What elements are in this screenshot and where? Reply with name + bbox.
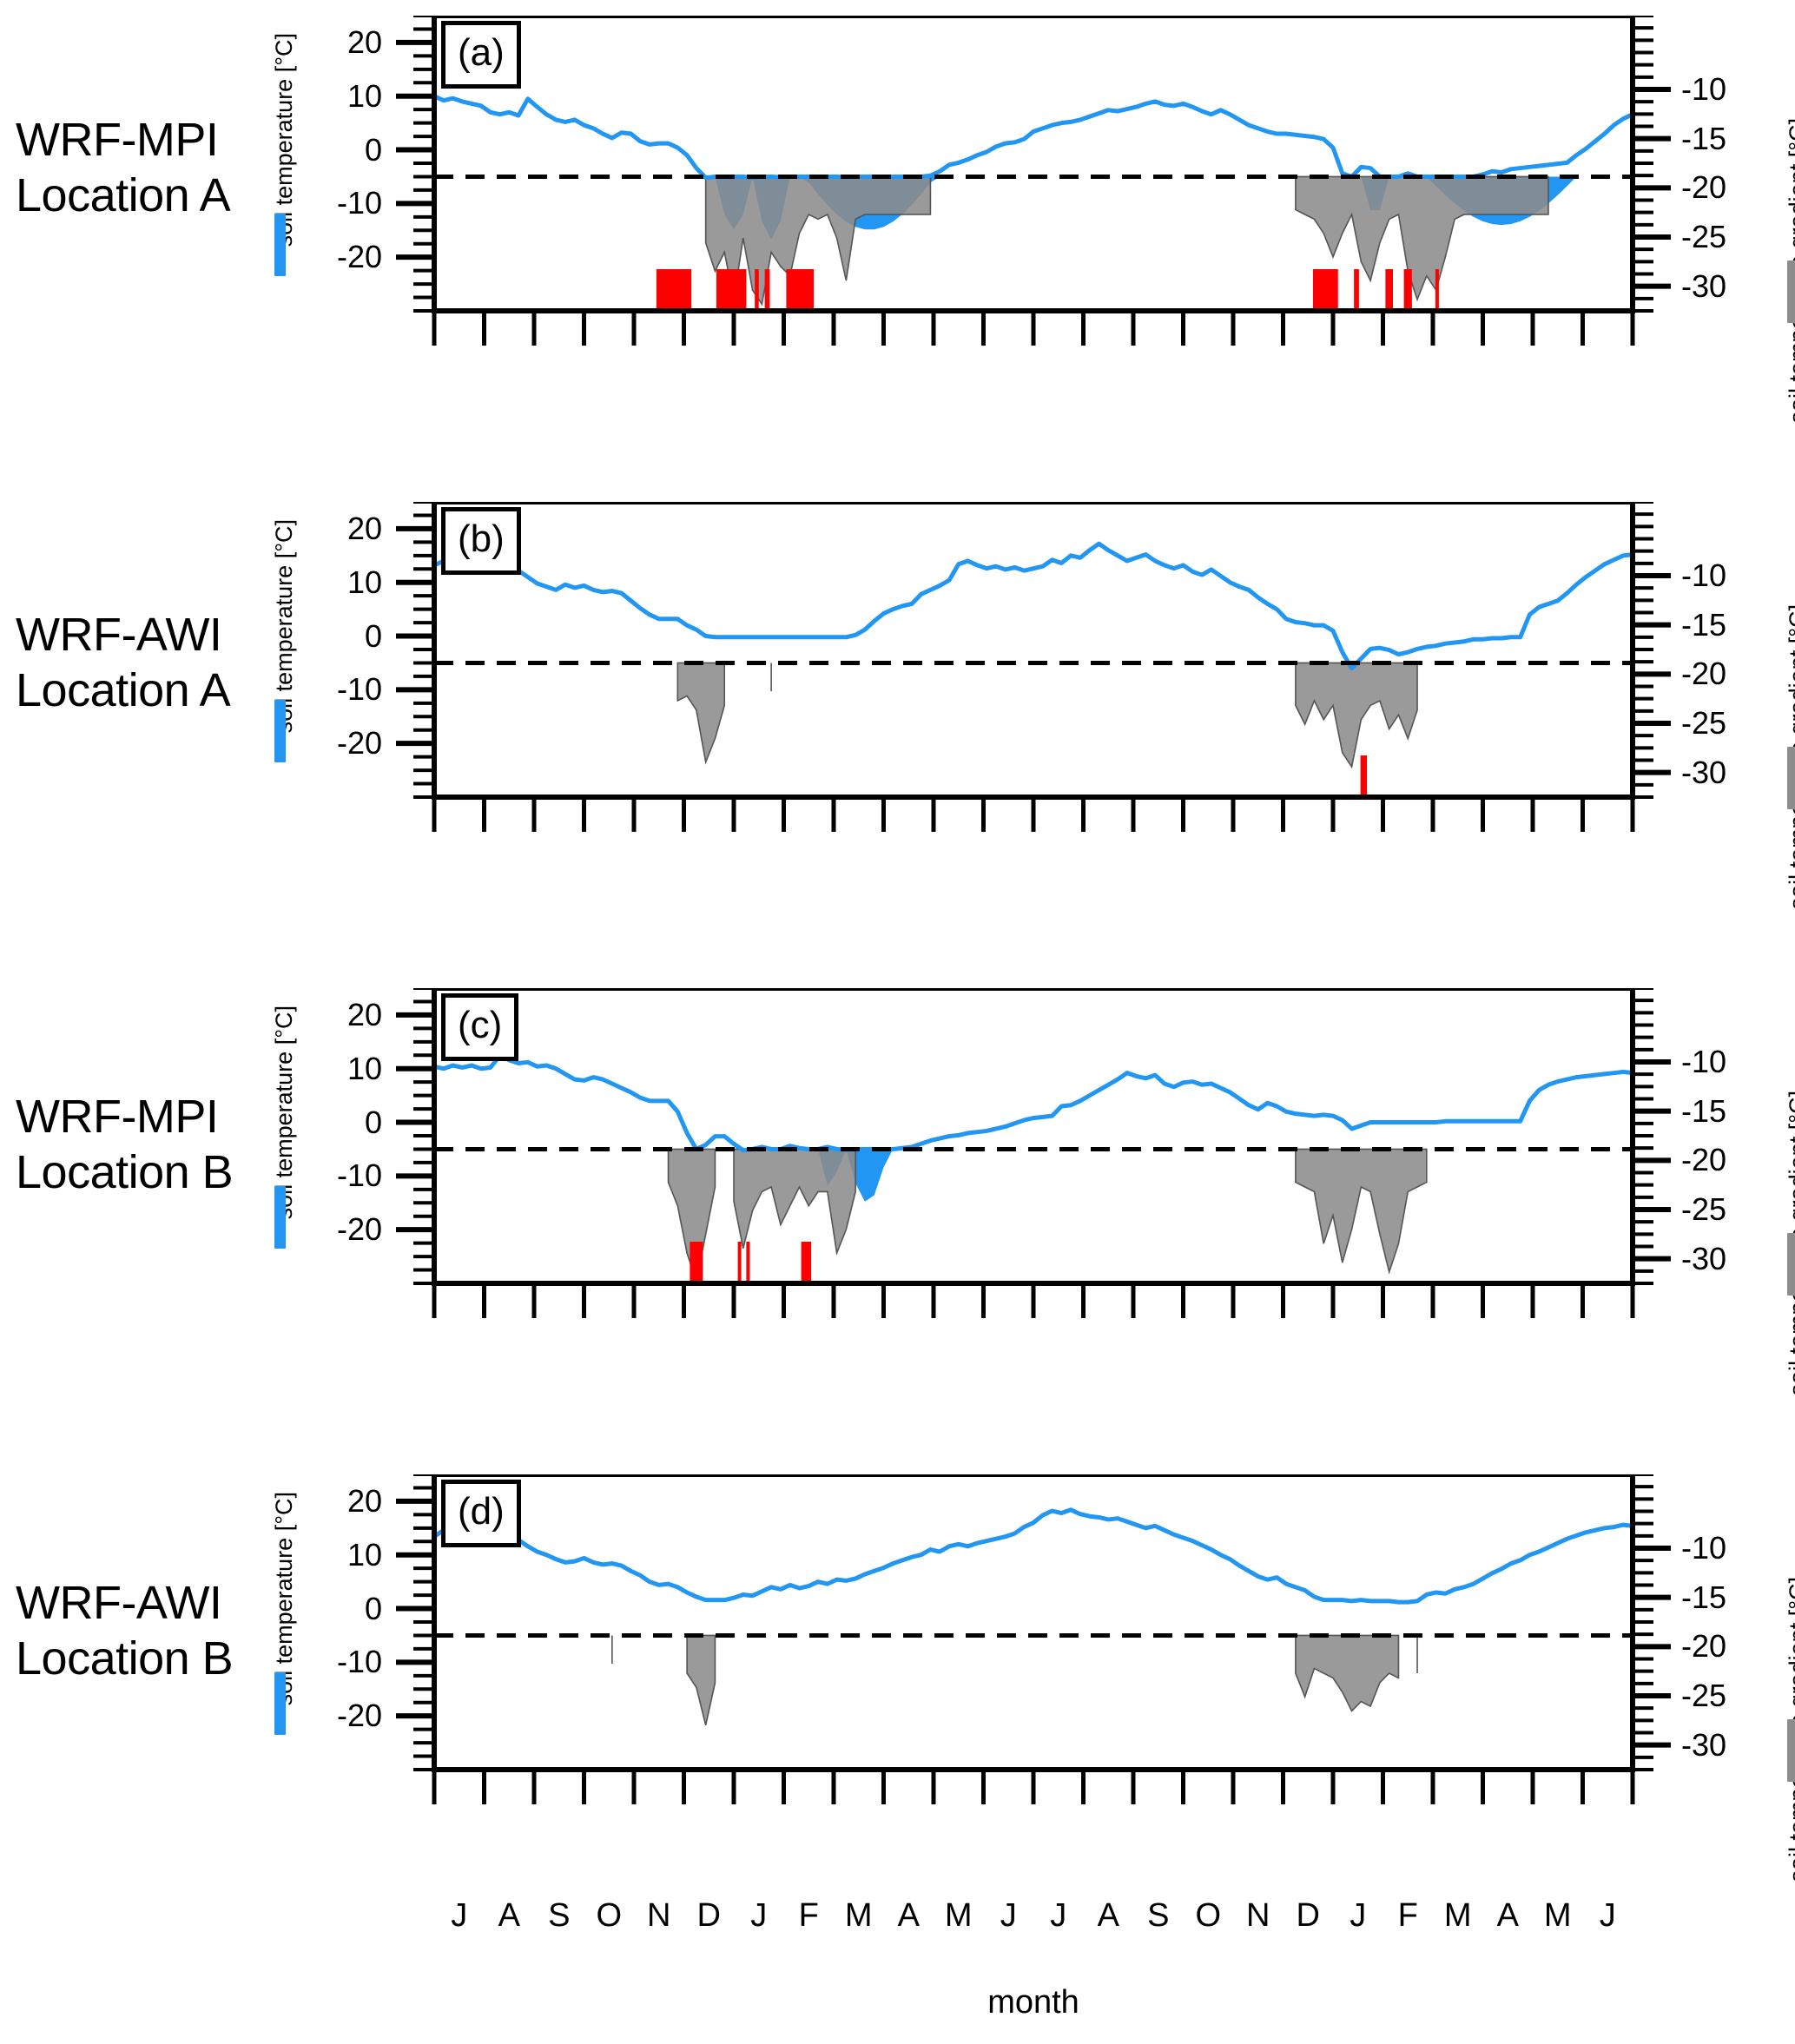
y-axis-right-tick-label: -10 <box>1681 1530 1777 1566</box>
gradient-area <box>1296 663 1417 767</box>
y-axis-right-tick-label: -30 <box>1681 268 1777 305</box>
red-event-bar <box>1354 269 1359 311</box>
legend-swatch-gradient <box>1787 260 1795 323</box>
legend-swatch-gradient <box>1787 1233 1795 1296</box>
x-axis-month-label: N <box>1241 1897 1276 1935</box>
x-axis-month-label: N <box>642 1897 676 1935</box>
y-axis-tick-label: 10 <box>304 564 382 601</box>
x-axis-month-label: J <box>1041 1897 1076 1935</box>
y-axis-right-tick-label: -25 <box>1681 705 1777 742</box>
y-axis-right-tick-label: -15 <box>1681 1579 1777 1616</box>
red-event-bar <box>802 1242 812 1283</box>
legend-swatch-temperature <box>274 214 286 276</box>
plot-area-a <box>0 16 1795 424</box>
x-axis-month-label: F <box>791 1897 826 1935</box>
red-event-bar <box>1361 755 1367 797</box>
y-axis-right-tick-label: -30 <box>1681 1727 1777 1764</box>
x-axis-month-label: A <box>492 1897 526 1935</box>
red-event-bar <box>765 269 770 311</box>
y-axis-right-tick-label: -10 <box>1681 1044 1777 1080</box>
y-axis-tick-label: 10 <box>304 1537 382 1573</box>
gradient-area <box>734 1149 855 1253</box>
legend-swatch-temperature <box>274 1672 286 1735</box>
x-axis-month-label: J <box>442 1897 477 1935</box>
panel-tag-a: (a) <box>441 21 521 89</box>
y-axis-tick-label: 20 <box>304 1483 382 1520</box>
plot-frame <box>434 16 1633 311</box>
red-event-bar <box>1313 269 1338 311</box>
plot-frame <box>434 988 1633 1283</box>
legend-swatch-gradient <box>1787 1719 1795 1782</box>
plot-area-d <box>0 1474 1795 1882</box>
red-event-bar <box>755 269 759 311</box>
y-axis-right-tick-label: -30 <box>1681 1241 1777 1277</box>
gradient-area <box>677 663 724 762</box>
y-axis-tick-label: -20 <box>304 239 382 275</box>
y-axis-tick-label: 0 <box>304 1104 382 1141</box>
x-axis-month-label: J <box>991 1897 1026 1935</box>
temperature-line <box>434 96 1633 178</box>
x-axis-month-label: S <box>542 1897 577 1935</box>
y-axis-tick-label: 0 <box>304 132 382 168</box>
y-axis-tick-label: -10 <box>304 185 382 221</box>
y-axis-right-tick-label: -25 <box>1681 1191 1777 1228</box>
plot-frame <box>434 502 1633 797</box>
temperature-line <box>434 1056 1633 1151</box>
y-axis-tick-label: 10 <box>304 1051 382 1087</box>
legend-swatch-temperature <box>274 1186 286 1249</box>
panel-tag-c: (c) <box>441 993 518 1061</box>
x-axis-month-label: A <box>1490 1897 1525 1935</box>
y-axis-right-tick-label: -30 <box>1681 755 1777 791</box>
red-event-bar <box>690 1242 703 1283</box>
x-axis-month-label: A <box>891 1897 926 1935</box>
x-axis-month-label: M <box>1541 1897 1575 1935</box>
x-axis-month-label: A <box>1091 1897 1125 1935</box>
soil-temperature-figure: WRF-MPI Location A WRF-AWI Location A WR… <box>0 0 1795 2044</box>
y-axis-tick-label: 20 <box>304 24 382 61</box>
red-event-bar <box>716 269 747 311</box>
plot-frame <box>434 1474 1633 1770</box>
y-axis-right-tick-label: -10 <box>1681 557 1777 594</box>
temperature-line <box>434 1510 1633 1602</box>
legend-swatch-temperature <box>274 700 286 762</box>
y-axis-right-tick-label: -20 <box>1681 1628 1777 1665</box>
y-axis-tick-label: 20 <box>304 997 382 1033</box>
gradient-area <box>1296 1149 1427 1271</box>
panel-tag-d: (d) <box>441 1480 521 1547</box>
x-axis-month-label: J <box>1590 1897 1625 1935</box>
y-axis-tick-label: -10 <box>304 1157 382 1194</box>
y-axis-tick-label: -20 <box>304 1211 382 1248</box>
red-event-bar <box>1385 269 1393 311</box>
red-event-bar <box>746 1242 749 1283</box>
x-axis-month-label: S <box>1141 1897 1176 1935</box>
y-axis-tick-label: 0 <box>304 618 382 655</box>
y-axis-right-tick-label: -20 <box>1681 1142 1777 1178</box>
x-axis-title: month <box>434 1984 1633 2021</box>
red-event-bar <box>1404 269 1412 311</box>
gradient-area <box>1296 1635 1399 1711</box>
red-event-bar <box>657 269 691 311</box>
y-axis-tick-label: 0 <box>304 1591 382 1627</box>
x-axis-month-label: M <box>1441 1897 1475 1935</box>
x-axis-month-label: J <box>1341 1897 1376 1935</box>
plot-area-c <box>0 988 1795 1396</box>
y-axis-tick-label: -10 <box>304 1644 382 1680</box>
legend-swatch-gradient <box>1787 747 1795 809</box>
x-axis-month-label: O <box>591 1897 626 1935</box>
y-axis-tick-label: -20 <box>304 1698 382 1734</box>
y-axis-right-tick-label: -15 <box>1681 1093 1777 1130</box>
y-axis-tick-label: -10 <box>304 671 382 708</box>
y-axis-right-tick-label: -15 <box>1681 607 1777 643</box>
y-axis-right-tick-label: -10 <box>1681 71 1777 108</box>
red-event-bar <box>1435 269 1439 311</box>
red-event-bar <box>738 1242 742 1283</box>
y-axis-right-tick-label: -20 <box>1681 656 1777 692</box>
x-axis-month-label: M <box>941 1897 976 1935</box>
x-axis-month-label: J <box>742 1897 776 1935</box>
plot-area-b <box>0 502 1795 910</box>
red-event-bar <box>786 269 814 311</box>
x-axis-month-label: D <box>691 1897 726 1935</box>
temperature-line <box>434 544 1633 668</box>
y-axis-right-tick-label: -25 <box>1681 1678 1777 1714</box>
panel-tag-b: (b) <box>441 507 521 575</box>
y-axis-right-tick-label: -20 <box>1681 169 1777 206</box>
y-axis-tick-label: -20 <box>304 725 382 762</box>
x-axis-month-label: D <box>1290 1897 1325 1935</box>
x-axis-month-label: M <box>841 1897 876 1935</box>
y-axis-tick-label: 10 <box>304 78 382 115</box>
x-axis-month-label: F <box>1390 1897 1425 1935</box>
y-axis-right-tick-label: -25 <box>1681 219 1777 255</box>
y-axis-right-tick-label: -15 <box>1681 121 1777 157</box>
x-axis-month-label: O <box>1191 1897 1225 1935</box>
y-axis-tick-label: 20 <box>304 511 382 547</box>
gradient-area <box>687 1635 715 1724</box>
